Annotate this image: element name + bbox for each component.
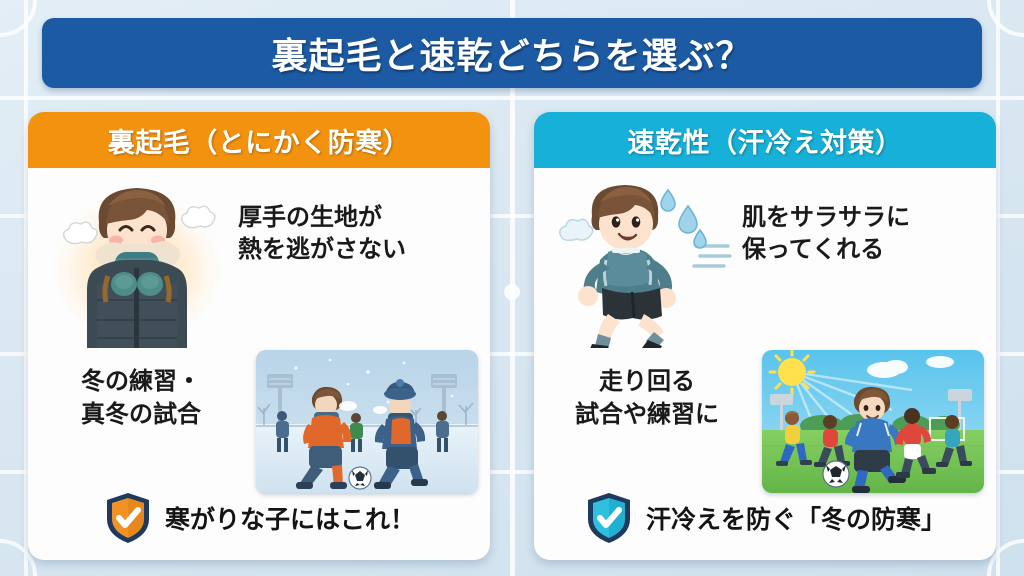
panel-caption-right: 肌をサラサラに 保ってくれる — [742, 202, 990, 265]
page-title: 裏起毛と速乾どちらを選ぶ？ — [271, 27, 752, 79]
panel-header-right: 速乾性（汗冷え対策） — [534, 112, 996, 168]
badge-label-right: 汗冷えを防ぐ「冬の防寒」 — [646, 500, 946, 536]
page-title-bar: 裏起毛と速乾どちらを選ぶ？ — [42, 18, 982, 88]
sunny-green-field-soccer-kids-illustration — [762, 350, 984, 493]
panel-header-label: 速乾性（汗冷え対策） — [628, 121, 903, 160]
panel-header-left: 裏起毛（とにかく防寒） — [28, 112, 490, 168]
panel-usage-right: 走り回る 試合や練習に — [540, 366, 754, 431]
shield-check-icon — [584, 491, 634, 545]
panel-header-label: 裏起毛（とにかく防寒） — [108, 121, 411, 160]
badge-row-right: 汗冷えを防ぐ「冬の防寒」 — [534, 486, 996, 550]
shield-check-icon — [103, 491, 153, 545]
badge-label-left: 寒がりな子にはこれ！ — [165, 500, 415, 536]
running-boy-sweat-illustration — [548, 172, 738, 348]
panel-usage-left: 冬の練習・ 真冬の試合 — [34, 366, 248, 431]
infographic-root: 裏起毛と速乾どちらを選ぶ？ 裏起毛（とにかく防寒） — [0, 0, 1024, 576]
badge-row-left: 寒がりな子にはこれ！ — [28, 486, 490, 550]
winter-coat-boy-illustration — [42, 172, 232, 348]
panel-fleece-lined: 裏起毛（とにかく防寒） — [28, 112, 490, 560]
snowy-field-soccer-kids-illustration — [256, 350, 478, 493]
panel-caption-left: 厚手の生地が 熱を逃がさない — [238, 202, 476, 265]
panel-quick-dry: 速乾性（汗冷え対策） — [534, 112, 996, 560]
